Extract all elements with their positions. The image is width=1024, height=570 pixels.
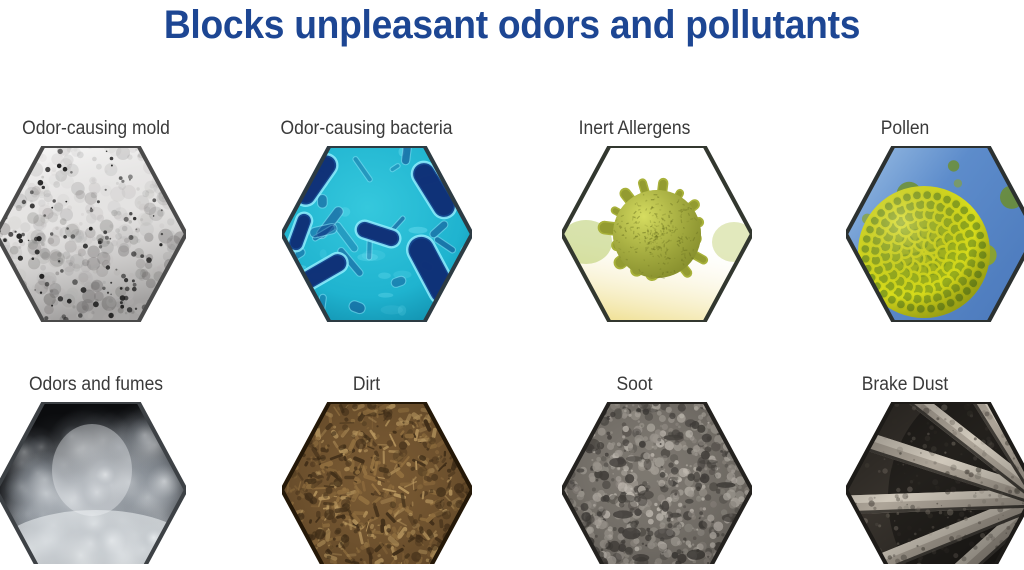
hexagon-svg-dirt <box>282 402 472 564</box>
hexagon-image-odors-and-fumes <box>0 402 256 564</box>
hexagon-image-brake-dust <box>768 402 1024 564</box>
tile-dirt: Dirt <box>256 374 512 564</box>
hexagon-svg-pollen <box>846 146 1024 322</box>
hexagon-image-odor-causing-mold <box>0 146 256 326</box>
tile-inert-allergens: Inert Allergens <box>512 118 768 326</box>
hexagon-image-inert-allergens <box>512 146 768 326</box>
hexagon-image-soot <box>512 402 768 564</box>
tile-odor-causing-mold: Odor-causing mold <box>0 118 256 326</box>
tile-label-brake-dust: Brake Dust <box>796 374 1015 396</box>
tile-pollen: Pollen <box>768 118 1024 326</box>
hexagon-svg-odors-and-fumes <box>0 402 186 564</box>
hexagon-image-dirt <box>256 402 512 564</box>
tile-grid: Odor-causing mold Odor-causing bacteria <box>0 0 1024 570</box>
hexagon-svg-soot <box>562 402 752 564</box>
tile-label-dirt: Dirt <box>233 374 501 396</box>
tile-odor-causing-bacteria: Odor-causing bacteria <box>256 118 512 326</box>
tile-label-odor-causing-bacteria: Odor-causing bacteria <box>233 118 501 140</box>
hexagon-svg-brake-dust <box>846 402 1024 564</box>
hexagon-svg-inert-allergens <box>562 146 752 322</box>
infographic-page: Blocks unpleasant odors and pollutants O… <box>0 0 1024 570</box>
hexagon-svg-odor-causing-bacteria <box>282 146 472 322</box>
hexagon-image-pollen <box>768 146 1024 326</box>
tile-label-soot: Soot <box>512 374 758 396</box>
hexagon-svg-odor-causing-mold <box>0 146 186 322</box>
tile-label-odors-and-fumes: Odors and fumes <box>0 374 243 396</box>
tile-brake-dust: Brake Dust <box>768 374 1024 564</box>
tile-soot: Soot <box>512 374 768 564</box>
tile-label-inert-allergens: Inert Allergens <box>512 118 758 140</box>
hexagon-image-odor-causing-bacteria <box>256 146 512 326</box>
tile-label-odor-causing-mold: Odor-causing mold <box>0 118 243 140</box>
tile-label-pollen: Pollen <box>796 118 1015 140</box>
tile-odors-and-fumes: Odors and fumes <box>0 374 256 564</box>
